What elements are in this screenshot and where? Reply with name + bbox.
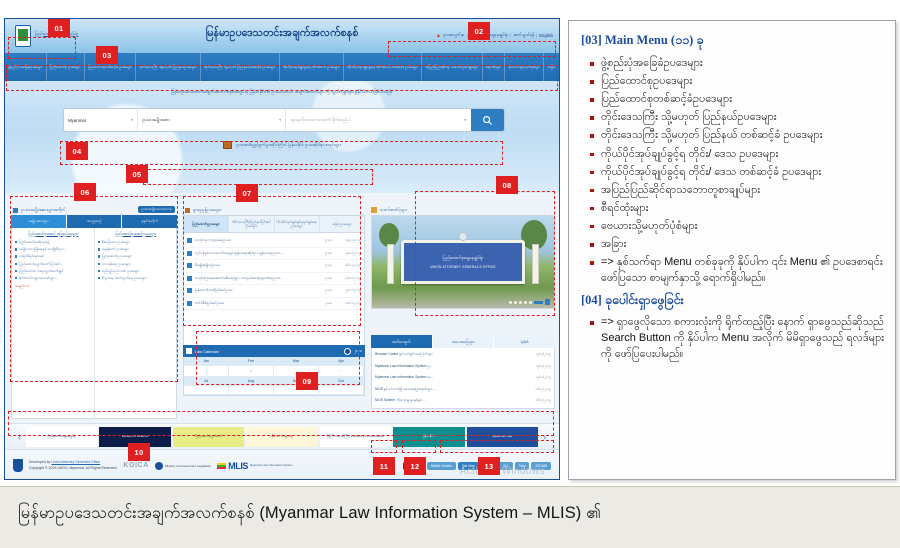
all-categories-button[interactable]: ဥပဒေအမျိုးအစားအားလုံး <box>138 206 175 213</box>
tab-notices[interactable]: အသိပေးချက် <box>371 335 433 348</box>
notes-heading-04: [04] ခုပေါင်းရှာဖွေခြင်း <box>581 293 885 311</box>
month-header[interactable]: Oct <box>319 377 364 386</box>
list-item-label: စီမံခြောဝေး ဥပဒေများ <box>102 240 130 244</box>
nav-item-7[interactable]: အပြည်ပြည်ဆိုင်ရာ သဘောတူစာချုပ်များ <box>422 53 482 81</box>
copyright-label: Copyright © 2019 UAGO, Myanmar, All Righ… <box>29 466 117 471</box>
recent-laws-title: ရှာဖွေရန်ဥပဒေများ <box>193 207 221 214</box>
book-icon <box>223 141 232 149</box>
month-count: ၇ <box>184 366 229 377</box>
list-item-label: ပြည်ထောင်စု တရားလွှတ်တော်ချုပ် <box>19 269 63 273</box>
row-date: ၂၄/၀၁/၂၀၁၉ <box>335 288 361 293</box>
category-select-value: ဥပဒေအမျိုးအစား <box>142 117 170 124</box>
qa-row-title: MLIS နှင့်ပတ်သက်၍ အမေးအဖြေအဆင်းများ… <box>375 387 525 392</box>
partner-logo[interactable]: ပြည်ထောင်စုလွှတ်တော် <box>173 427 244 447</box>
language-select[interactable]: Myanmar ▾ <box>64 109 138 131</box>
qa-row-date: ၀၆/၀၂/၂၀၁၉ <box>525 398 551 403</box>
bullet-icon <box>98 270 100 272</box>
footer-credits: Developed by Union Attorney General's Of… <box>29 460 117 471</box>
developed-by-label: Developed by <box>29 460 51 464</box>
list-item[interactable]: ပြည်ထောင်စု တရားလွှတ်တော်ချုပ် <box>15 269 92 273</box>
column-1-header: ပြည်ထောင်စုအဆင့် အုပ်ချုပ်ရေးများ <box>15 231 92 237</box>
content-panels: ဥပဒေအမျိုးအစားများအလိုက် ဥပဒေအမျိုးအစားအ… <box>5 195 559 421</box>
nav-item-6[interactable]: ကိုယ်ပိုင်အုပ်ချုပ်ခွင့်ရ တိုင်း/ဒေသ တစ်… <box>344 53 422 81</box>
mog-label: Ministry of Government Legislation <box>165 464 211 468</box>
chevron-down-icon: ▾ <box>131 118 133 122</box>
office-signboard: ပြည်ထောင်စုရှေ့နေချုပ်ရုံး UNION ATTORNE… <box>401 240 525 284</box>
law-calendar-header: Law Calendar ၂၀၂၀ <box>183 345 365 357</box>
row-title: ဇီဝမျိုးစုံမျိုးကွဲဥပဒေ <box>195 263 303 268</box>
row-date: ၀၆/၀၂/၂၀၁၉ <box>335 263 361 268</box>
table-row[interactable]: တင်ဒါစီမံပြင်ဆင်ဥပဒေဥပဒေ၁၈/၀၁/၂၀၁၉ <box>184 298 364 311</box>
crest-icon <box>458 232 467 241</box>
list-item[interactable]: ပြည်ထောင်စုလွှတ်တော် ပြင်ဆင်... <box>15 262 92 266</box>
nav-item-0[interactable]: ဖွဲ့စည်းပုံ အခြေခံဥပဒေများ <box>5 53 47 81</box>
law-category-tabs: အမျိုးအစားများ အက္ခရာစဉ် ခုနှစ်အလိုက် <box>11 215 177 228</box>
mlis-brand: MLIS <box>228 461 248 471</box>
nav-item-4[interactable]: တိုင်းဒေသကြီး သို့မဟုတ် ပြည်နယ်တစ်ဆင့်ခံ… <box>201 53 280 81</box>
figure-caption-text: မြန်မာဥပဒေသတင်းအချက်အလက်စနစ် (Myanmar La… <box>18 503 882 527</box>
notes-item: ကိုယ်ပိုင်အုပ်ချုပ်ခွင့်ရ တိုင်း/ ဒေသ တစ… <box>601 165 885 181</box>
table-row[interactable]: မြန်မာဗဟိုဘဏ်ပြင်ဆင်ဥပဒေဥပဒေ၂၄/၀၁/၂၀၁၉ <box>184 285 364 298</box>
tab-union-laws[interactable]: ပြည်ထောင်စုဥပဒေများ <box>184 216 229 232</box>
pillar-decoration <box>532 244 539 284</box>
month-header[interactable]: Jan <box>184 357 229 366</box>
nav-item-5[interactable]: ကိုယ်ပိုင်အုပ်ချုပ်ခွင့်ရ တိုင်း/ဒေသ ဥပဒ… <box>280 53 344 81</box>
row-title: စားသုံးသူကာကွယ်ရေးဥပဒေ <box>195 238 303 243</box>
row-kind: ဥပဒေ <box>306 301 332 306</box>
signboard-myanmar-text: ပြည်ထောင်စုရှေ့နေချုပ်ရုံး <box>443 255 483 262</box>
row-kind: ဥပဒေ <box>306 276 332 281</box>
news-photo-title: သတင်းဓာတ်ပုံများ <box>380 207 407 213</box>
carousel-dot[interactable] <box>509 301 512 304</box>
mlis-logo: MLIS Myanmar Law Information System <box>217 461 292 471</box>
notes-item: တိုင်းဒေသကြီး သို့မဟုတ် ပြည်နယ် တစ်ဆင့်ခ… <box>601 128 885 144</box>
notes-item: => ရှာဖွေလိုသော စကားလုံးကို ရိုက်ထည့်ပြီ… <box>601 315 885 362</box>
bullet-icon <box>15 277 17 279</box>
list-item-label: စီးပွားရေး ဆက်သွယ်ရေး ဥပဒေများ <box>102 276 147 280</box>
list-item-label: နိုင်ငံတော်သမ္မတဟောင်းများ... <box>19 276 58 280</box>
pillar-decoration <box>387 244 394 284</box>
partner-logo[interactable]: ပြည်ထောင်စုရှေ့နေချုပ်ရုံး <box>26 427 97 447</box>
notes-item: အပြည်ပြည်ဆိုင်ရာသဘောတူစာချုပ်များ <box>601 183 885 199</box>
qa-row-date: ၀၆/၀၂/၂၀၁၉ <box>525 387 551 392</box>
list-icon <box>13 208 18 213</box>
activate-windows-watermark: Activate Windows <box>460 466 545 477</box>
law-calendar-year: ၂၀၂၀ <box>354 348 362 354</box>
list-item[interactable]: ပြည်ထောင်စုအစိုးရအဖွဲ့ <box>15 240 92 244</box>
nav-separator: | <box>510 33 511 38</box>
doc-icon <box>187 276 192 281</box>
bullet-icon <box>98 277 100 279</box>
callout-label-13: 13 <box>478 457 500 475</box>
month-count: - <box>229 386 274 395</box>
notes-item: အခြား <box>601 237 885 253</box>
notes-item: => နှစ်သက်ရာ Menu တစ်ခုခုကို နှိပ်ပါက ၎င… <box>601 255 885 286</box>
partner-logo[interactable]: Myanmar Law <box>467 427 538 447</box>
column-2-header: ပြည်ထောင်စုအဆင့်ဥပဒေများ <box>98 231 175 237</box>
list-item[interactable]: နိုင်ငံတော်သမ္မတဟောင်းများ... <box>15 276 92 280</box>
row-kind: ဥပဒေ <box>306 288 332 293</box>
tab-categories[interactable]: အမျိုးအစားများ <box>11 215 67 228</box>
chevron-down-icon: ▾ <box>464 118 466 122</box>
carousel-dot[interactable] <box>519 301 522 304</box>
row-title: တင်ဒါစီမံပြင်ဆင်ဥပဒေ <box>195 301 303 306</box>
table-row[interactable]: လုပ်ငန်းခွင်ဘေးအကင်းရေးနှင့်ကျန်းမာရေးဆိ… <box>184 248 364 261</box>
news-photo-carousel[interactable]: ပြည်ထောင်စုရှေ့နေချုပ်ရုံး UNION ATTORNE… <box>371 215 555 309</box>
qa-rows: Browser Cache ရှင်းလင်းခြင်းအကြောင်းများ… <box>371 348 555 409</box>
top-right-nav: ▲ မူလစာမျက်နှာ | ပြည်ထောင်စုရှေ့နေချုပ်ရ… <box>436 32 553 39</box>
carousel-dot[interactable] <box>529 301 532 304</box>
notes-item: ဖွဲ့စည်းပုံအခြေခံဥပဒေများ <box>601 56 885 72</box>
nav-item-9[interactable]: ဗေယားသို့မဟုတ်ပုံစံများ <box>505 53 544 81</box>
hero-tagline: မြန်မာဥပဒေသတင်းအချက်အလက်စနစ်အတွင်းမှ မြန… <box>5 89 559 96</box>
partner-logo[interactable]: နိုင်ငံတော်သမ္မတရုံး <box>246 427 317 447</box>
chevron-right-icon[interactable] <box>545 299 550 305</box>
app-screenshot: ပြည်ထောင်စုရှေ့နေချုပ်ရုံး မြန်မာဥပဒေသတင… <box>4 18 560 480</box>
hero-subtitle-row: ဥပဒေစာစီရှုဖွင့်ချက်များဆိုင်းကြိတ် မြန်… <box>5 141 559 149</box>
bullet-icon <box>98 248 100 250</box>
chevron-right-icon[interactable]: › <box>540 432 549 442</box>
list-item[interactable]: အခွန်တော် ဥပဒေများ <box>98 247 175 251</box>
recent-laws-rows: စားသုံးသူကာကွယ်ရေးဥပဒေဥပဒေ၁၅/၀၃/၂၀၁၉ လုပ… <box>183 233 365 352</box>
search-laws-icon <box>185 208 190 213</box>
row-date: ၃၁/၀၁/၂၀၁၉ <box>335 276 361 281</box>
row-title: မြန်မာဗဟိုဘဏ်ပြင်ဆင်ဥပဒေ <box>195 288 303 293</box>
recent-laws-panel: ရှာဖွေရန်ဥပဒေများ ပြည်ထောင်စုဥပဒေများ တိ… <box>183 205 365 343</box>
notes-panel: [03] Main Menu (၁၁) ခု ဖွဲ့စည်းပုံအခြေခံ… <box>568 20 896 480</box>
month-header[interactable]: Apr <box>319 357 364 366</box>
tab-self-admin-laws[interactable]: ကိုယ်ပိုင်အုပ်ချုပ်ခွင့်ရအုပ်ချုပ်ရေးဥပဒ… <box>275 216 320 232</box>
tab-region-laws[interactable]: တိုင်းဒေသကြီး/ပြည်နယ်ပြင်ဆင်ဥပဒေများ <box>229 216 274 232</box>
hero-banner: မြန်မာဥပဒေသတင်းအချက်အလက်စနစ်အတွင်းမှ မြန… <box>5 81 559 193</box>
law-category-columns: ပြည်ထောင်စုအဆင့် အုပ်ချုပ်ရေးများ ပြည်ထေ… <box>11 228 177 419</box>
tab-qa[interactable]: Q&A <box>494 335 555 348</box>
bullet-icon <box>15 263 17 265</box>
chevron-down-icon: ▾ <box>279 118 281 122</box>
seal-icon <box>344 348 351 355</box>
qa-row-title: Browser Cache ရှင်းလင်းခြင်းအကြောင်းများ <box>375 352 525 357</box>
callout-label-12: 12 <box>404 457 426 475</box>
carousel-dot[interactable] <box>524 301 527 304</box>
nav-separator: | <box>536 33 537 38</box>
doc-icon <box>187 301 192 306</box>
law-category-column-2: ပြည်ထောင်စုအဆင့်ဥပဒေများ စီမံခြောဝေး ဥပဒ… <box>95 228 177 418</box>
list-item[interactable]: Myanmar Law Information System ၅...၁၅/၀၃… <box>372 361 554 373</box>
table-row[interactable]: စားသုံးသူကာကွယ်ရေးဥပဒေဥပဒေ၁၅/၀၃/၂၀၁၉ <box>184 235 364 248</box>
month-header[interactable]: Feb <box>229 357 274 366</box>
main-menu-bar: ဖွဲ့စည်းပုံ အခြေခံဥပဒေများ ပြည်ထောင်စု ဥ… <box>5 53 559 81</box>
top-nav-item-english[interactable]: English <box>539 33 553 38</box>
home-icon[interactable]: ▲ <box>436 33 441 39</box>
doc-icon <box>187 251 192 256</box>
list-item[interactable]: MLIS System ကိုအသုံးချ မှုစနစ်များ…၀၆/၀၂… <box>372 395 554 407</box>
carousel-indicators[interactable] <box>509 299 550 305</box>
callout-label-03: 03 <box>96 46 118 64</box>
notes-item: ကိုယ်ပိုင်အုပ်ချုပ်ခွင့်ရ တိုင်း/ ဒေသ ဥပ… <box>601 147 885 163</box>
row-kind: ဥပဒေ <box>306 238 332 243</box>
recent-laws-tabs: ပြည်ထောင်စုဥပဒေများ တိုင်းဒေသကြီး/ပြည်နယ… <box>183 215 365 233</box>
list-item-label: တရားစီရင်ရေးစနစ် <box>19 254 43 258</box>
law-calendar-grid: Jan Feb Mar Apr ၇ ၁ ၂ - Jul Aug Sep Oct … <box>183 357 365 396</box>
bullet-icon <box>98 263 100 265</box>
row-date: ၁၅/၀၃/၂၀၁၉ <box>335 238 361 243</box>
show-more-link[interactable]: အနည်းငယ် <box>15 284 92 289</box>
bullet-icon <box>15 241 17 243</box>
partner-logo[interactable]: မြန်မာနိုင်ငံ <box>393 427 464 447</box>
list-item[interactable]: ပြည်ထောင်စု ဥပဒေများ <box>98 254 175 258</box>
law-category-column-1: ပြည်ထောင်စုအဆင့် အုပ်ချုပ်ရေးများ ပြည်ထေ… <box>12 228 95 418</box>
table-row[interactable]: ဇီဝမျိုးစုံမျိုးကွဲဥပဒေဥပဒေ၀၆/၀၂/၂၀၁၉ <box>184 260 364 273</box>
top-spacer <box>0 0 900 18</box>
doc-icon <box>187 238 192 243</box>
nav-item-8[interactable]: စီရင်ထုံးများ <box>483 53 506 81</box>
list-item[interactable]: Browser Cache ရှင်းလင်းခြင်းအကြောင်းများ… <box>372 349 554 361</box>
qa-row-title: Myanmar Law Information System ၅... <box>375 364 525 369</box>
news-photo-panel: သတင်းဓာတ်ပုံများ ပြည်ထောင်စုရှေ့နေချုပ်ရ… <box>371 205 555 331</box>
mlis-subtitle: Myanmar Law Information System <box>250 464 292 467</box>
doc-icon <box>187 288 192 293</box>
nav-item-10[interactable]: အခြား <box>544 53 559 81</box>
mog-logo: Ministry of Government Legislation <box>155 462 211 470</box>
qa-panel: အသိပေးချက် အမေးအဖြေများ Q&A Browser Cach… <box>371 335 555 409</box>
list-item[interactable]: တာဝန်ခံရေး ဥပဒေများ <box>98 262 175 266</box>
law-calendar-title: Law Calendar <box>195 349 219 354</box>
list-item-label: စည်းမျဉ်းစည်းကမ်း ဥပဒေများ <box>102 269 140 273</box>
list-item[interactable]: စီးပွားရေး ဆက်သွယ်ရေး ဥပဒေများ <box>98 276 175 280</box>
shield-icon <box>13 459 23 472</box>
carousel-dot[interactable] <box>514 301 517 304</box>
callout-label-07: 07 <box>236 184 258 202</box>
signboard-english-text: UNION ATTORNEY GENERAL'S OFFICE <box>430 265 496 269</box>
callout-label-04: 04 <box>66 142 88 160</box>
law-category-panel-header: ဥပဒေအမျိုးအစားများအလိုက် ဥပဒေအမျိုးအစားအ… <box>11 205 177 215</box>
row-title: လုပ်ငန်းခွင်ဘေးအကင်းရေးနှင့်ကျန်းမာရေးဆိ… <box>195 251 303 256</box>
month-header[interactable]: Jul <box>184 377 229 386</box>
photo-icon <box>371 207 377 213</box>
figure-caption: မြန်မာဥပဒေသတင်းအချက်အလက်စနစ် (Myanmar La… <box>0 486 900 548</box>
bullet-icon <box>98 255 100 257</box>
notes-item: ပြည်ထောင်စုဥပဒေများ <box>601 74 885 90</box>
law-calendar-year-select[interactable]: ၂၀၂၀ <box>344 348 362 355</box>
bullet-icon <box>15 248 17 250</box>
uago-link[interactable]: Union Attorney General's Office <box>51 460 100 464</box>
month-count: ၁ <box>229 366 274 377</box>
notes-item: ပြည်ထောင်စုတစ်ဆင့်ခံဥပဒေများ <box>601 92 885 108</box>
list-item-label: အခွန်တော် ဥပဒေများ <box>102 247 129 251</box>
list-item-label: ပြည်ထောင်စုအစိုးရအဖွဲ့ <box>19 240 49 244</box>
qa-row-title: MLIS System ကိုအသုံးချ မှုစနစ်များ… <box>375 398 525 403</box>
table-row[interactable]: လျော်ကြေးရေးဆောင်အစီအစဉ်များ ကာကွယ်စောင့… <box>184 273 364 286</box>
list-item-label: ပြည်ထောင်စုလွှတ်တော် ပြင်ဆင်... <box>19 262 63 266</box>
partner-logo[interactable]: ပြန်ကြားရေးဝန်ကြီးဌာန Ministry of Inform… <box>320 427 391 447</box>
qa-row-date: ၁၅/၀၃/၂၀၁၉ <box>525 364 551 369</box>
month-count: - <box>319 386 364 395</box>
mobile-version-button[interactable]: Mobile Version <box>427 462 456 470</box>
tab-faq[interactable]: အမေးအဖြေများ <box>433 335 495 348</box>
list-item[interactable]: အမျိုးသားလုံခြုံရေးနှင့် အကျိုးစီးပွား..… <box>15 247 92 251</box>
bullet-icon <box>15 270 17 272</box>
recent-laws-header: ရှာဖွေရန်ဥပဒေများ <box>183 205 365 215</box>
bullet-icon <box>98 241 100 243</box>
news-photo-header: သတင်းဓာတ်ပုံများ <box>371 205 555 215</box>
month-count: - <box>319 366 364 377</box>
tab-other-laws[interactable]: အခြားဥပဒေများ <box>320 216 364 232</box>
notes-list-03: ဖွဲ့စည်းပုံအခြေခံဥပဒေများ ပြည်ထောင်စုဥပဒ… <box>581 56 885 286</box>
top-nav-item-contact[interactable]: ဆက်သွယ်ရန် <box>513 32 534 39</box>
search-bar: Myanmar ▾ ဥပဒေအမျိုးအစား ▾ ရှာဖွေလိုသောစ… <box>63 108 505 132</box>
search-button[interactable] <box>471 109 504 131</box>
carousel-active-indicator[interactable] <box>534 301 543 304</box>
row-title: လျော်ကြေးရေးဆောင်အစီအစဉ်များ ကာကွယ်စောင့… <box>195 276 303 281</box>
qa-row-date: ၁၅/၀၃/၂၀၁၉ <box>525 375 551 380</box>
month-header[interactable]: Mar <box>274 357 319 366</box>
search-input-placeholder: ရှာဖွေလိုသောစကားလုံးကို ရိုက်ထည့်ပါ <box>291 117 350 124</box>
list-item-label: အမျိုးသားလုံခြုံရေးနှင့် အကျိုးစီးပွား..… <box>19 247 66 251</box>
month-header[interactable]: Aug <box>229 377 274 386</box>
qa-tabs: အသိပေးချက် အမေးအဖြေများ Q&A <box>371 335 555 348</box>
partner-logo-carousel: ‹ ပြည်ထောင်စုရှေ့နေချုပ်ရုံး Ministry of… <box>5 423 559 450</box>
law-category-panel: ဥပဒေအမျိုးအစားများအလိုက် ဥပဒေအမျိုးအစားအ… <box>11 205 177 409</box>
callout-label-01: 01 <box>48 19 70 37</box>
list-item-label: တာဝန်ခံရေး ဥပဒေများ <box>102 262 131 266</box>
top-nav-item-home[interactable]: မူလစာမျက်နှာ <box>443 32 464 39</box>
myanmar-flag-icon <box>217 463 226 469</box>
law-calendar-panel: Law Calendar ၂၀၂၀ Jan Feb Mar Apr ၇ ၁ ၂ … <box>183 345 365 409</box>
notes-item: စီရင်ထုံးများ <box>601 201 885 217</box>
list-item[interactable]: MLIS နှင့်ပတ်သက်၍ အမေးအဖြေအဆင်းများ…၀၆/၀… <box>372 384 554 396</box>
koica-logo: KOICA <box>123 462 149 469</box>
row-date: ၁၈/၀၁/၂၀၁၉ <box>335 301 361 306</box>
doc-icon <box>187 263 192 268</box>
row-date: ၁၅/၀၃/၂၀၁၉ <box>335 251 361 256</box>
law-category-panel-title: ဥပဒေအမျိုးအစားများအလိုက် <box>21 207 65 214</box>
tab-by-year[interactable]: ခုနှစ်အလိုက် <box>122 215 177 228</box>
notes-list-04: => ရှာဖွေလိုသော စကားလုံးကို ရိုက်ထည့်ပြီ… <box>581 315 885 362</box>
list-item-label: ပြည်ထောင်စု ဥပဒေများ <box>102 254 132 258</box>
hero-subtitle: ဥပဒေစာစီရှုဖွင့်ချက်များဆိုင်းကြိတ် မြန်… <box>236 142 340 149</box>
callout-label-11: 11 <box>373 457 395 475</box>
mog-icon <box>155 462 163 470</box>
callout-label-05: 05 <box>126 165 148 183</box>
language-select-value: Myanmar <box>68 118 86 123</box>
nav-item-3[interactable]: တိုင်းဒေသကြီး သို့မဟုတ် ပြည်နယ်ဥပဒေများ <box>136 53 201 81</box>
tab-alphabetical[interactable]: အက္ခရာစဉ် <box>67 215 123 228</box>
notes-heading-03: [03] Main Menu (၁၁) ခု <box>581 33 885 51</box>
callout-label-08: 08 <box>496 176 518 194</box>
bullet-icon <box>15 255 17 257</box>
callout-label-09: 09 <box>296 372 318 390</box>
calendar-icon <box>186 348 192 354</box>
row-kind: ဥပဒေ <box>306 251 332 256</box>
page-root: ပြည်ထောင်စုရှေ့နေချုပ်ရုံး မြန်မာဥပဒေသတင… <box>0 0 900 548</box>
chevron-left-icon[interactable]: ‹ <box>15 432 24 442</box>
notes-item: ဗေယားသို့မဟုတ်ပုံစံများ <box>601 219 885 235</box>
row-kind: ဥပဒေ <box>306 263 332 268</box>
notes-item: တိုင်းဒေသကြီး သို့မဟုတ် ပြည်နယ်ဥပဒေများ <box>601 110 885 126</box>
search-input[interactable]: ရှာဖွေလိုသောစကားလုံးကို ရိုက်ထည့်ပါ ▾ <box>286 109 471 131</box>
month-count: - <box>184 386 229 395</box>
list-item[interactable]: တရားစီရင်ရေးစနစ် <box>15 254 92 258</box>
callout-label-02: 02 <box>468 22 490 40</box>
category-select[interactable]: ဥပဒေအမျိုးအစား ▾ <box>138 109 286 131</box>
qa-row-title: Myanmar Law Information System အ... <box>375 375 525 380</box>
list-item[interactable]: စည်းမျဉ်းစည်းကမ်း ဥပဒေများ <box>98 269 175 273</box>
list-item[interactable]: စီမံခြောဝေး ဥပဒေများ <box>98 240 175 244</box>
list-item[interactable]: Myanmar Law Information System အ...၁၅/၀၃… <box>372 372 554 384</box>
qa-row-date: ၁၅/၀၃/၂၀၁၉ <box>525 352 551 357</box>
nav-item-1[interactable]: ပြည်ထောင်စု ဥပဒေများ <box>47 53 85 81</box>
callout-label-06: 06 <box>74 183 96 201</box>
search-icon <box>482 115 493 126</box>
callout-label-10: 10 <box>128 443 150 461</box>
